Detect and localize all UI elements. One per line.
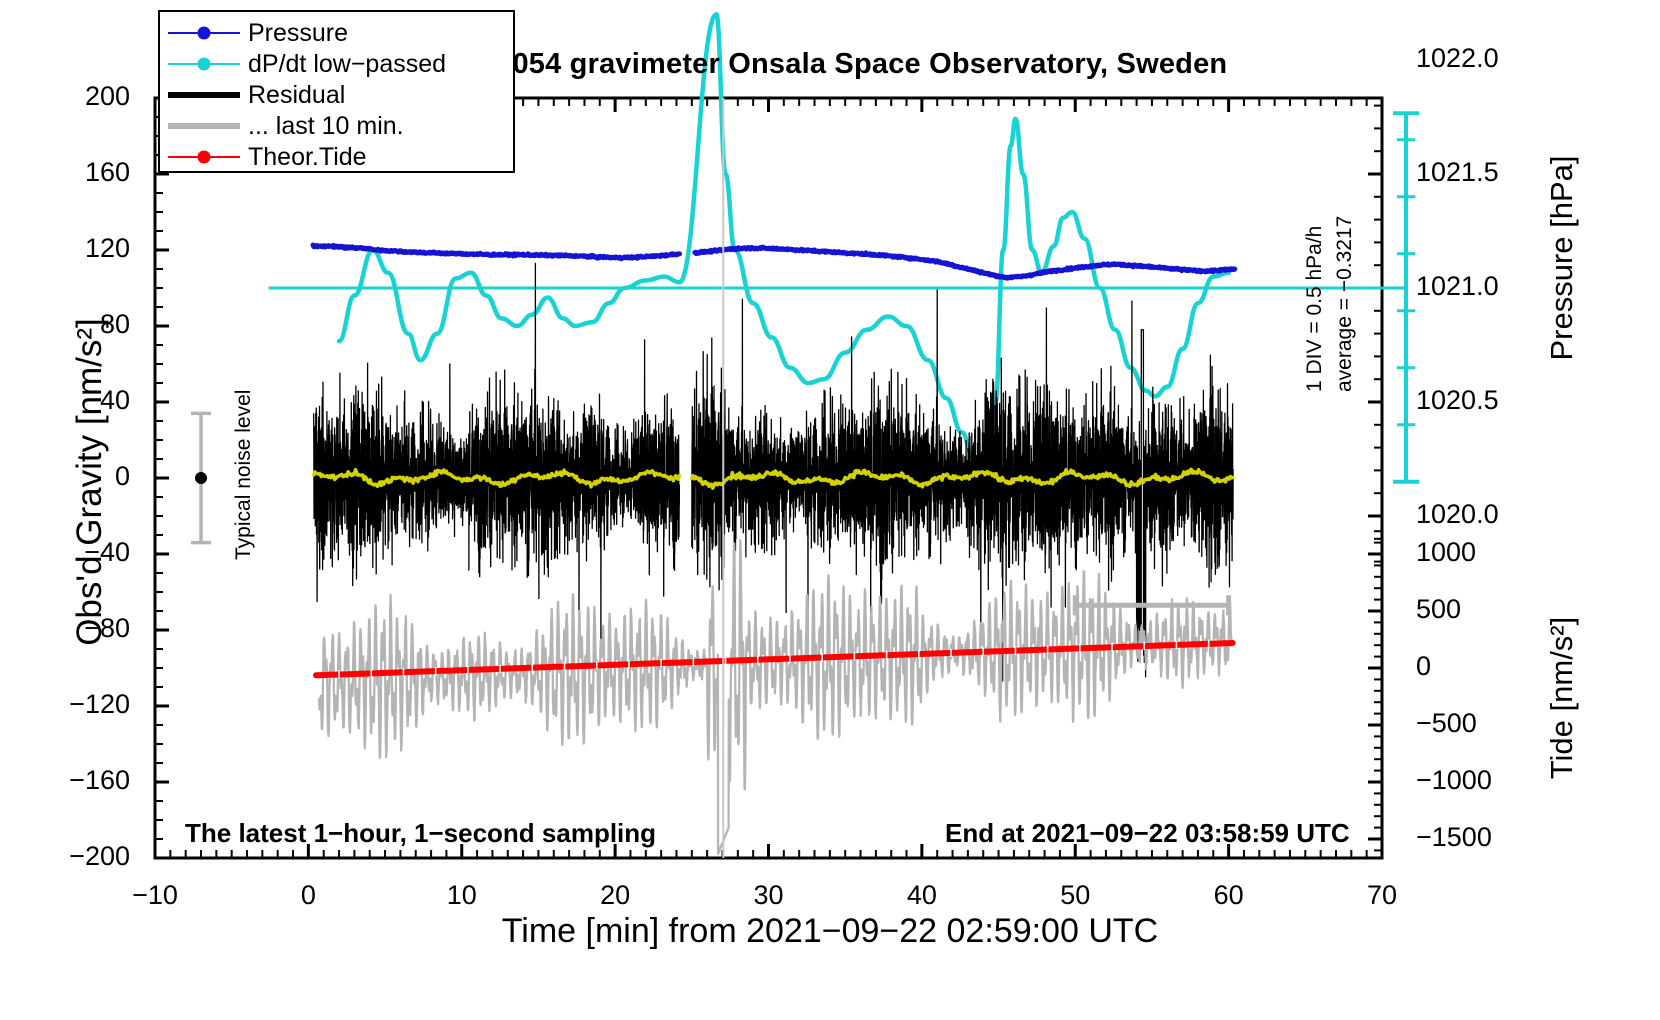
y-tick-left-7: −80 bbox=[20, 613, 130, 644]
x-tick-7: 60 bbox=[1169, 880, 1289, 911]
legend-swatch-icon bbox=[160, 80, 248, 110]
y-tick-left-4: 40 bbox=[20, 385, 130, 416]
legend-swatch-icon bbox=[160, 111, 248, 141]
legend-swatch-icon bbox=[160, 49, 248, 79]
legend-item-0: Pressure bbox=[160, 18, 513, 48]
y-tick-tide-2: 0 bbox=[1416, 651, 1431, 682]
y-tick-left-5: 0 bbox=[20, 461, 130, 492]
y-tick-tide-0: 1000 bbox=[1416, 537, 1476, 568]
legend-item-4: Theor.Tide bbox=[160, 142, 513, 172]
y-tick-left-2: 120 bbox=[20, 233, 130, 264]
x-tick-1: 0 bbox=[248, 880, 368, 911]
y-tick-left-8: −120 bbox=[20, 689, 130, 720]
y-tick-left-1: 160 bbox=[20, 157, 130, 188]
legend-item-1: dP/dt low−passed bbox=[160, 49, 513, 79]
legend-swatch-icon bbox=[160, 18, 248, 48]
y-tick-tide-4: −1000 bbox=[1416, 765, 1492, 796]
legend-item-3: ... last 10 min. bbox=[160, 111, 513, 141]
legend-swatch-icon bbox=[160, 142, 248, 172]
y-tick-tide-5: −1500 bbox=[1416, 822, 1492, 853]
footer-right-text: End at 2021−09−22 03:58:59 UTC bbox=[945, 818, 1350, 849]
y-tick-tide-3: −500 bbox=[1416, 708, 1477, 739]
y-tick-left-0: 200 bbox=[20, 81, 130, 112]
legend-item-2: Residual bbox=[160, 80, 513, 110]
y-tick-pressure-4: 1020.0 bbox=[1416, 499, 1499, 530]
x-tick-6: 50 bbox=[1015, 880, 1135, 911]
x-tick-3: 20 bbox=[555, 880, 675, 911]
legend-label: Theor.Tide bbox=[248, 142, 367, 172]
x-tick-5: 40 bbox=[862, 880, 982, 911]
y-tick-left-6: −40 bbox=[20, 537, 130, 568]
legend-label: Pressure bbox=[248, 18, 348, 48]
x-tick-2: 10 bbox=[402, 880, 522, 911]
legend-label: dP/dt low−passed bbox=[248, 49, 446, 79]
y-tick-left-9: −160 bbox=[20, 765, 130, 796]
y-tick-tide-1: 500 bbox=[1416, 594, 1461, 625]
noise-level-annotation: Typical noise level bbox=[232, 390, 256, 560]
y-tick-pressure-2: 1021.0 bbox=[1416, 271, 1499, 302]
y-tick-left-3: 80 bbox=[20, 309, 130, 340]
x-tick-8: 70 bbox=[1322, 880, 1442, 911]
legend-label: ... last 10 min. bbox=[248, 111, 404, 141]
legend: PressuredP/dt low−passedResidual... last… bbox=[158, 10, 515, 173]
x-tick-4: 30 bbox=[709, 880, 829, 911]
footer-left-text: The latest 1−hour, 1−second sampling bbox=[185, 818, 656, 849]
average-annotation: average = −0.3217 bbox=[1333, 216, 1357, 392]
chart-figure: SCG_054 gravimeter Onsala Space Observat… bbox=[0, 0, 1660, 1020]
legend-label: Residual bbox=[248, 80, 345, 110]
y-tick-pressure-1: 1021.5 bbox=[1416, 157, 1499, 188]
y-tick-pressure-0: 1022.0 bbox=[1416, 43, 1499, 74]
x-tick-0: −10 bbox=[95, 880, 215, 911]
y-tick-left-10: −200 bbox=[20, 841, 130, 872]
y-tick-pressure-3: 1020.5 bbox=[1416, 385, 1499, 416]
div-scale-annotation: 1 DIV = 0.5 hPa/h bbox=[1303, 226, 1327, 392]
